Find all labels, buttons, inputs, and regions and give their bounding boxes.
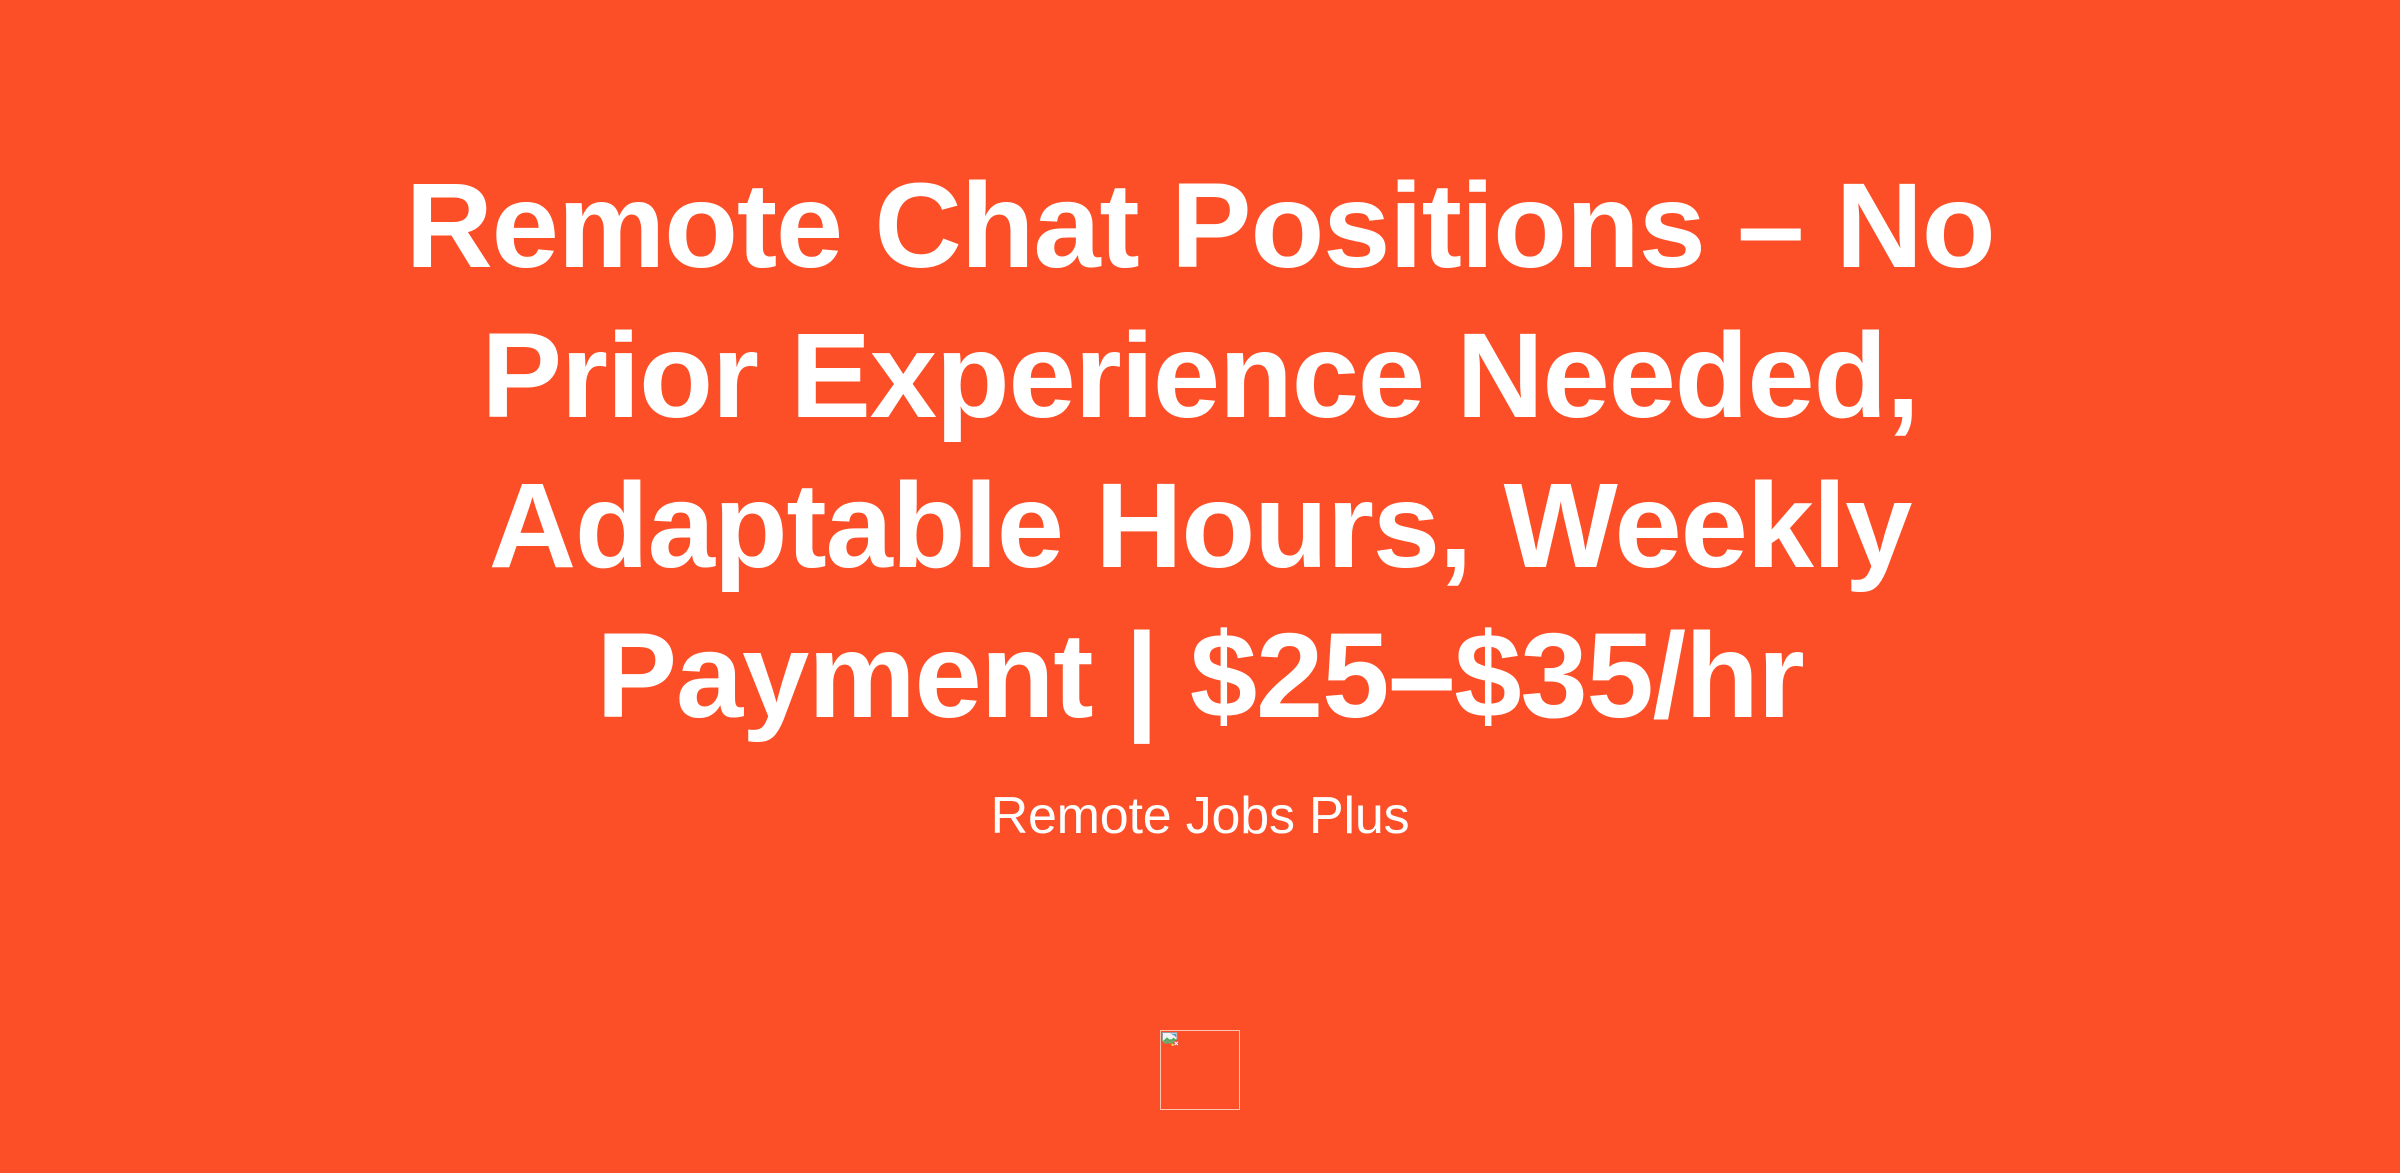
page-root: Remote Chat Positions – No Prior Experie… [0, 0, 2400, 1173]
broken-image-placeholder [1160, 1030, 1240, 1110]
page-title: Remote Chat Positions – No Prior Experie… [350, 150, 2050, 750]
broken-image-icon [1161, 1031, 1183, 1053]
page-subtitle: Remote Jobs Plus [350, 785, 2050, 847]
